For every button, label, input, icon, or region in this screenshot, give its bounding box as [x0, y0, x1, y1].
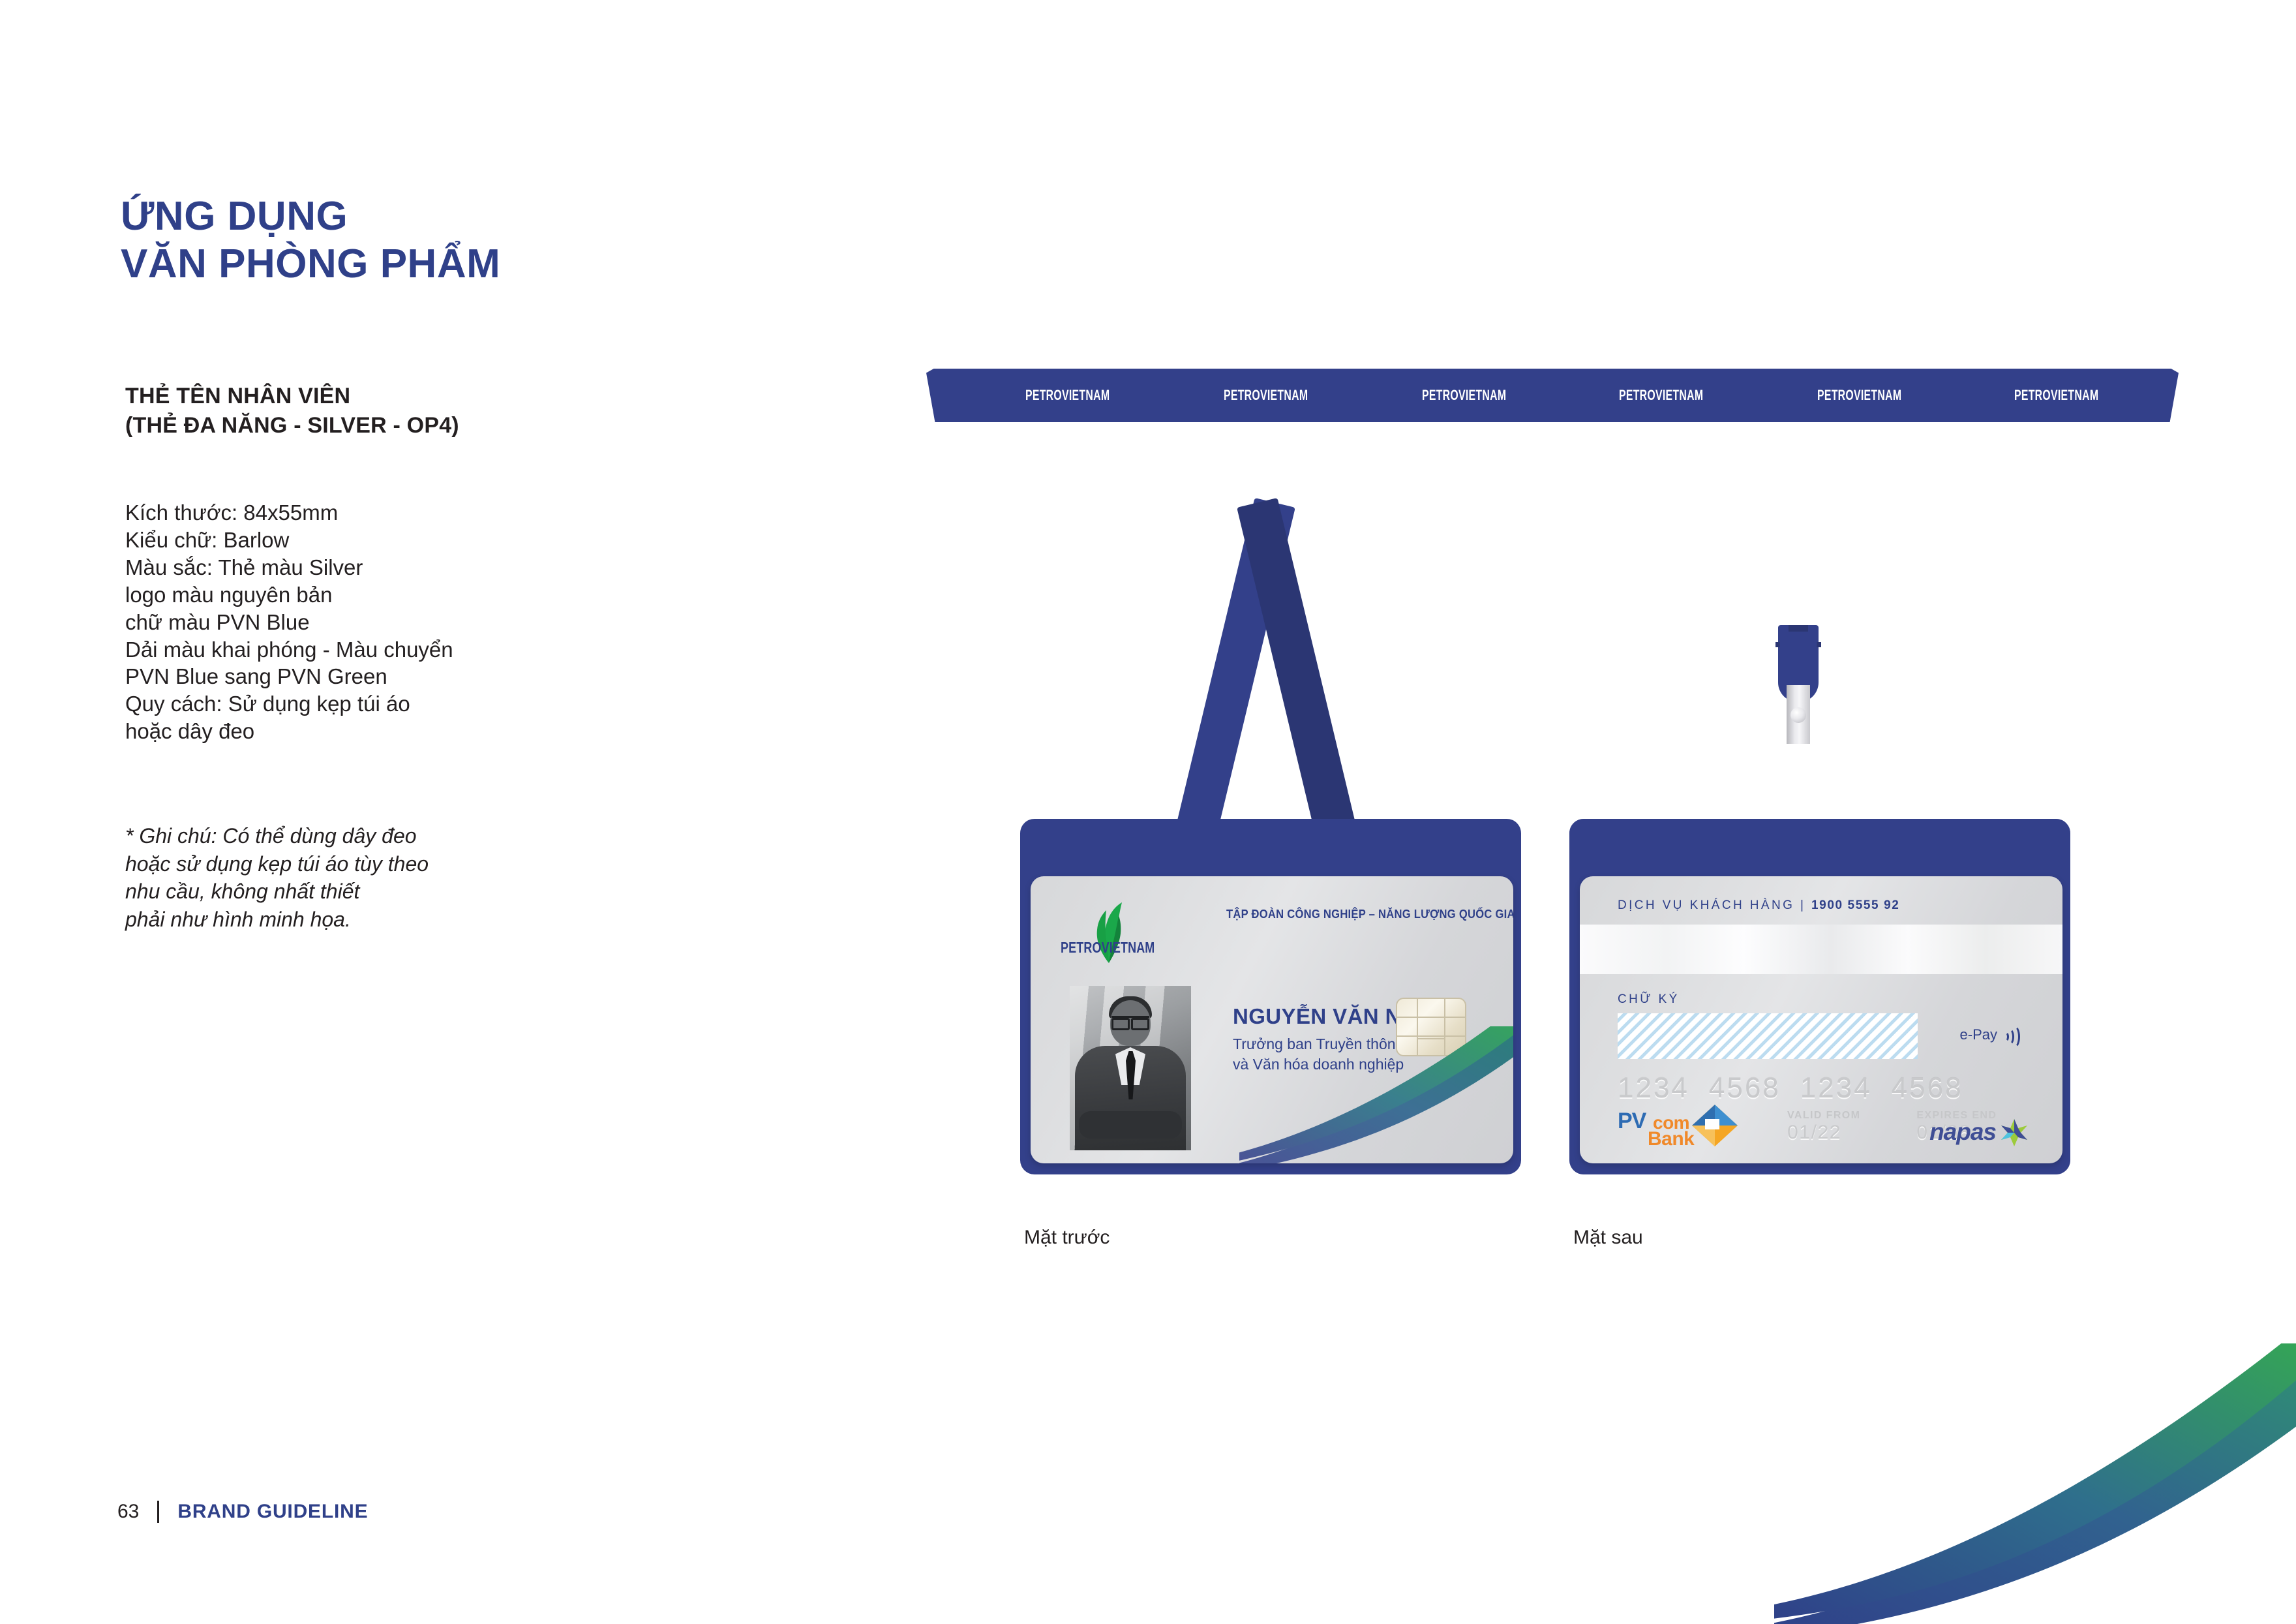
- strap-brand-text: PETROVIETNAM: [1619, 387, 1736, 404]
- signature-strip[interactable]: [1618, 1013, 1918, 1059]
- spec-line: Quy cách: Sử dụng kẹp túi áo: [125, 690, 621, 718]
- page-title-line-2: VĂN PHÒNG PHẨM: [121, 240, 500, 288]
- note-line: * Ghi chú: Có thể dùng dây đeo: [125, 822, 621, 850]
- strap-brand-text: PETROVIETNAM: [1224, 387, 1341, 404]
- employee-role-line-1: Trưởng ban Truyền thông: [1233, 1034, 1404, 1054]
- magnetic-stripe: [1580, 925, 2062, 974]
- spec-line: chữ màu PVN Blue: [125, 609, 621, 636]
- note-block: * Ghi chú: Có thể dùng dây đeo hoặc sử d…: [125, 822, 621, 933]
- spec-line: logo màu nguyên bản: [125, 581, 621, 609]
- badge-holder-back: DỊCH VỤ KHÁCH HÀNG | 1900 5555 92 CHỮ KÝ…: [1569, 819, 2070, 1174]
- lanyard-leg-right: [1237, 498, 1363, 863]
- strap-brand-text: PETROVIETNAM: [1025, 387, 1143, 404]
- caption-front: Mặt trước: [1024, 1227, 1110, 1249]
- customer-service-line: DỊCH VỤ KHÁCH HÀNG | 1900 5555 92: [1618, 898, 1899, 913]
- page-gradient-ribbon: [1774, 1343, 2296, 1624]
- valid-from-value: 01/22: [1787, 1122, 1860, 1144]
- lanyard-vertical-brand-text: PETROVIETNAM: [1134, 607, 1179, 731]
- note-line: phải như hình minh họa.: [125, 906, 621, 934]
- note-line: hoặc sử dụng kẹp túi áo tùy theo: [125, 850, 621, 878]
- employee-role-line-2: và Văn hóa doanh nghiệp: [1233, 1054, 1404, 1075]
- napas-logo: napas: [1929, 1118, 2029, 1146]
- footer-label: BRAND GUIDELINE: [177, 1501, 368, 1523]
- spec-line: hoặc dây đeo: [125, 718, 621, 745]
- contactless-icon: [2002, 1024, 2022, 1046]
- photo-glasses-icon: [1111, 1016, 1149, 1026]
- epay-label: e-Pay: [1960, 1026, 1997, 1043]
- page-canvas: ỨNG DỤNG VĂN PHÒNG PHẨM THẺ TÊN NHÂN VIÊ…: [0, 0, 2296, 1624]
- spec-list: Kích thước: 84x55mm Kiểu chữ: Barlow Màu…: [125, 499, 621, 745]
- note-line: nhu cầu, không nhất thiết: [125, 878, 621, 906]
- footer-page-number: 63: [117, 1501, 139, 1523]
- lanyard-strap: PETROVIETNAM PETROVIETNAM PETROVIETNAM P…: [926, 369, 2179, 422]
- pvcombank-pv: PV: [1618, 1109, 1646, 1134]
- emv-chip-icon: [1396, 998, 1466, 1056]
- signature-label: CHỮ KÝ: [1618, 992, 1680, 1007]
- pvcombank-diamond-icon: [1685, 1103, 1744, 1152]
- section-subhead: THẺ TÊN NHÂN VIÊN (THẺ ĐA NĂNG - SILVER …: [125, 382, 459, 440]
- card-number: 1234456812344568: [1618, 1072, 1983, 1105]
- card-clip-blue: [1778, 625, 1819, 736]
- strap-brand-text: PETROVIETNAM: [2014, 387, 2132, 404]
- page-title: ỨNG DỤNG VĂN PHÒNG PHẨM: [121, 192, 500, 288]
- pan-group: 4568: [1892, 1072, 1963, 1104]
- pan-group: 1234: [1800, 1072, 1872, 1104]
- petrovietnam-wordmark: PETROVIETNAM: [1061, 939, 1181, 957]
- id-card-front: PETROVIETNAM TẬP ĐOÀN CÔNG NGHIỆP – NĂNG…: [1031, 876, 1513, 1163]
- valid-from-label: VALID FROM: [1787, 1110, 1860, 1122]
- pan-group: 4568: [1709, 1072, 1781, 1104]
- page-title-line-1: ỨNG DỤNG: [121, 192, 500, 240]
- footer: 63 BRAND GUIDELINE: [117, 1501, 368, 1523]
- lanyard-v-straps: PETROVIETNAM: [1155, 493, 1376, 858]
- spec-line: Kiểu chữ: Barlow: [125, 527, 621, 554]
- spec-line: Kích thước: 84x55mm: [125, 499, 621, 527]
- customer-service-phone: 1900 5555 92: [1811, 898, 1899, 912]
- photo-folded-arms: [1079, 1111, 1182, 1139]
- employee-photo: [1070, 986, 1191, 1150]
- pan-group: 1234: [1618, 1072, 1689, 1104]
- spec-line: Dải màu khai phóng - Màu chuyển: [125, 636, 621, 664]
- clip-metal-strap: [1787, 685, 1810, 744]
- subhead-line-2: (THẺ ĐA NĂNG - SILVER - OP4): [125, 411, 459, 440]
- napas-star-icon: [1999, 1118, 2029, 1146]
- customer-service-label: DỊCH VỤ KHÁCH HÀNG |: [1618, 898, 1805, 912]
- footer-divider: [157, 1501, 159, 1523]
- card-tagline: TẬP ĐOÀN CÔNG NGHIỆP – NĂNG LƯỢNG QUỐC G…: [1226, 908, 1513, 921]
- spec-line: Màu sắc: Thẻ màu Silver: [125, 554, 621, 581]
- valid-from-block: VALID FROM 01/22: [1787, 1110, 1860, 1144]
- spec-line: PVN Blue sang PVN Green: [125, 663, 621, 690]
- strap-brand-text: PETROVIETNAM: [1422, 387, 1539, 404]
- epay-badge: e-Pay: [1960, 1024, 2022, 1046]
- badge-holder-front: PETROVIETNAM TẬP ĐOÀN CÔNG NGHIỆP – NĂNG…: [1020, 819, 1521, 1174]
- pvcombank-logo: PV com Bank: [1618, 1103, 1734, 1152]
- napas-wordmark: napas: [1929, 1118, 1996, 1146]
- subhead-line-1: THẺ TÊN NHÂN VIÊN: [125, 382, 459, 411]
- employee-role: Trưởng ban Truyền thông và Văn hóa doanh…: [1233, 1034, 1404, 1075]
- caption-back: Mặt sau: [1573, 1227, 1643, 1249]
- id-card-back: DỊCH VỤ KHÁCH HÀNG | 1900 5555 92 CHỮ KÝ…: [1580, 876, 2062, 1163]
- strap-brand-text: PETROVIETNAM: [1817, 387, 1935, 404]
